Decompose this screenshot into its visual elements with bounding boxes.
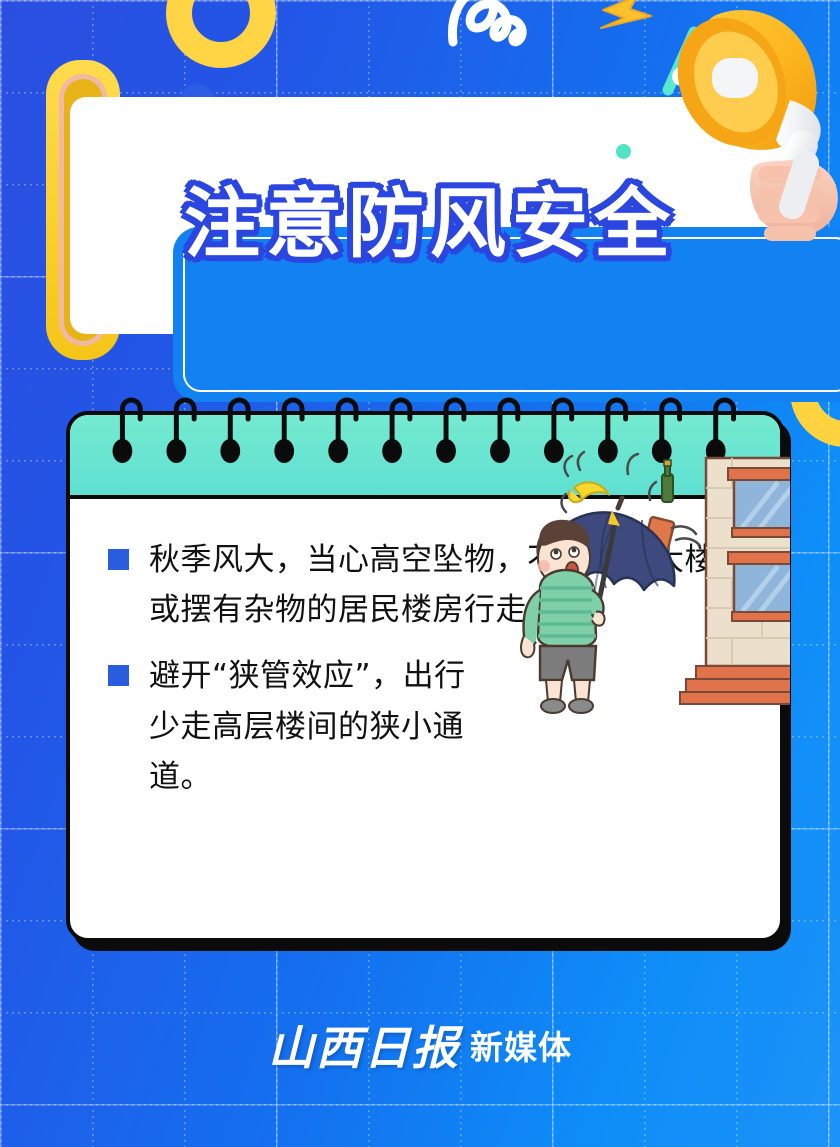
teal-dot-icon [616, 144, 631, 159]
brick-building-icon [680, 458, 790, 704]
poster-root: 注意防风安全 [0, 0, 840, 1147]
brand-sub-label: 新媒体 [470, 1021, 572, 1069]
megaphone-icon [640, 0, 840, 260]
ring-icon-top-left [166, 0, 276, 68]
bottle-icon [662, 460, 673, 502]
content-notebook: 秋季风大，当心高空坠物，不要紧贴大楼或摆有杂物的居民楼房行走。 避开“狭管效应”… [66, 411, 784, 942]
person-with-umbrella-falling-objects-illustration [510, 440, 790, 740]
squiggle-icon [447, 0, 553, 54]
square-bullet-icon [108, 665, 129, 686]
footer: 山西日报 新媒体 [0, 1012, 840, 1078]
brand-logo: 山西日报 [268, 1012, 460, 1078]
page-title: 注意防风安全 [150, 152, 710, 282]
banana-peel-icon [569, 482, 608, 502]
bullet-text-2: 避开“狭管效应”，出行少走高层楼间的狭小通道。 [149, 651, 479, 802]
square-bullet-icon [108, 549, 129, 570]
